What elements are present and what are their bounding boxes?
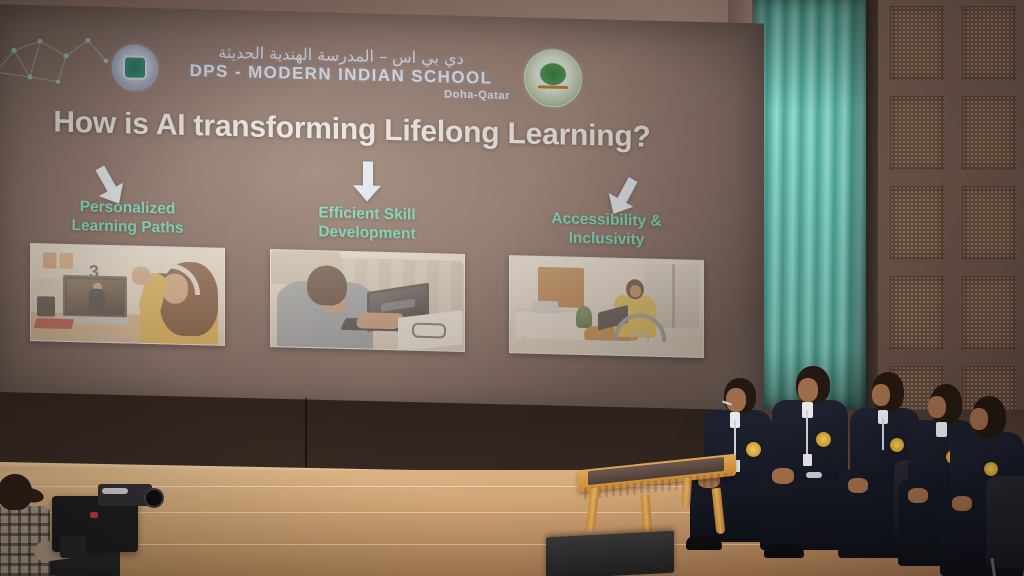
column-heading-line1: Accessibility &	[551, 210, 661, 230]
camera-lens	[144, 488, 164, 508]
slide-column-accessibility: Accessibility & Inclusivity	[499, 165, 714, 410]
acoustic-tile	[890, 186, 944, 260]
column-heading-line2: Development	[318, 223, 415, 242]
stage-monitor-speaker	[546, 531, 674, 576]
network-nodes-icon	[0, 10, 122, 109]
camera-light	[102, 488, 128, 494]
column-heading-line1: Efficient Skill	[318, 204, 415, 223]
auditorium-scene: دي بي اس – المدرسة الهندية الحديثة DPS -…	[0, 0, 1024, 576]
student-panelist-5	[936, 368, 1024, 576]
column-heading-line2: Learning Paths	[72, 217, 184, 237]
photo-accessibility	[509, 255, 704, 358]
25th-anniversary-logo-icon	[524, 48, 582, 107]
column-heading: Efficient Skill Development	[318, 204, 415, 244]
panel-chair	[986, 476, 1024, 568]
photo-skill-development	[270, 249, 465, 352]
acoustic-tile	[962, 6, 1016, 80]
acoustic-tile	[962, 96, 1016, 170]
acoustic-tile	[890, 276, 944, 350]
column-heading-line2: Inclusivity	[569, 230, 645, 249]
camera-operator	[0, 466, 164, 576]
slide-column-personalized: Personalized Learning Paths 3	[20, 153, 235, 398]
presentation-slide: دي بي اس – المدرسة الهندية الحديثة DPS -…	[0, 4, 764, 422]
acoustic-tile	[890, 96, 944, 170]
acoustic-tile	[962, 186, 1016, 260]
slide-columns: Personalized Learning Paths 3	[20, 153, 714, 411]
column-heading-line1: Personalized	[80, 198, 176, 217]
column-heading: Personalized Learning Paths	[72, 198, 184, 239]
column-heading: Accessibility & Inclusivity	[551, 210, 661, 251]
school-name-block: دي بي اس – المدرسة الهندية الحديثة DPS -…	[166, 43, 516, 102]
acoustic-tile	[962, 276, 1016, 350]
camera-grip	[60, 536, 86, 558]
arrow-down-icon	[350, 161, 384, 202]
school-crest-icon	[112, 44, 158, 91]
acoustic-tile	[890, 6, 944, 80]
student-panel	[690, 346, 1024, 576]
photo-personalized-learning: 3	[30, 243, 225, 346]
camera-record-indicator	[90, 512, 98, 518]
slide-column-skill: Efficient Skill Development	[260, 159, 475, 404]
slide-title: How is AI transforming Lifelong Learning…	[0, 104, 712, 156]
gold-coffee-table	[578, 462, 736, 536]
slide-header: دي بي اس – المدرسة الهندية الحديثة DPS -…	[112, 29, 582, 117]
